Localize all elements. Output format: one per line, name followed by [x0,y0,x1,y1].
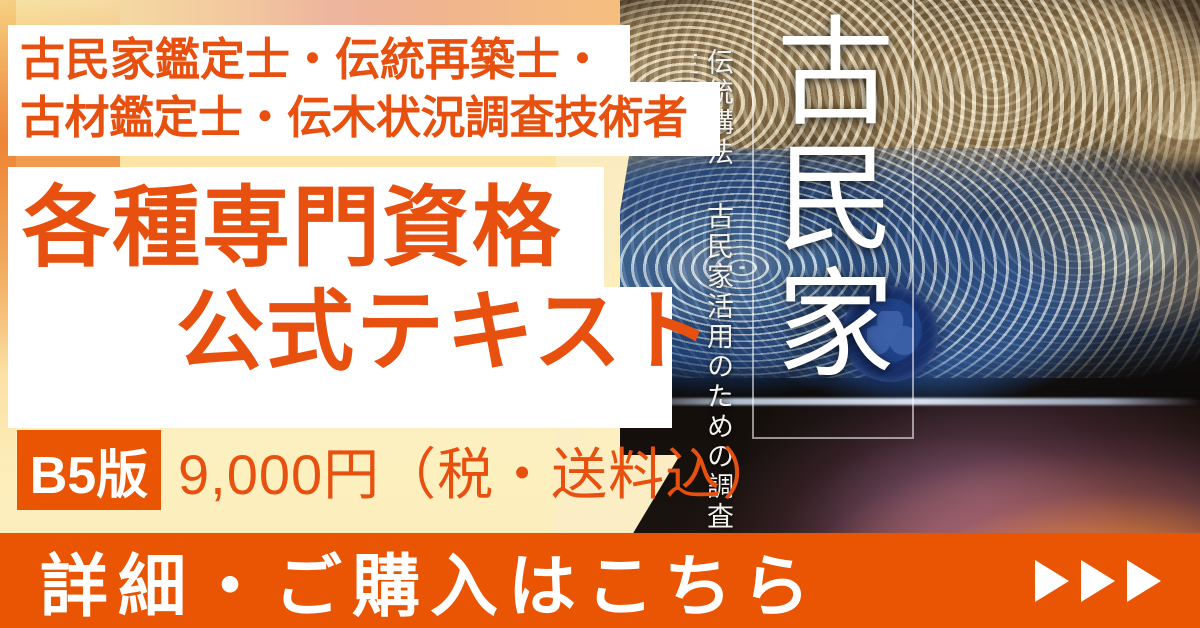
chevron-right-icon [1081,560,1115,602]
chevron-right-icon [1127,560,1161,602]
cover-title-vertical: 古民家 [774,10,894,430]
format-badge: B5版 [17,430,161,510]
cta-bar[interactable]: 詳細・ご購入はこちら [0,533,1200,628]
cta-arrows [1035,533,1161,628]
qualification-subheading: 古民家鑑定士・伝統再築士・ 古材鑑定士・伝木状況調査技術者 [20,31,720,147]
chevron-right-icon [1035,560,1069,602]
price-label: 9,000円（税・送料込） [178,430,779,510]
cta-label[interactable]: 詳細・ご購入はこちら [40,533,820,628]
promo-banner: 古民家 伝統構法 古民家活用のための調査と再生の 古民家鑑定士・伝統再築士・ 古… [0,0,1200,628]
qualification-line-1: 古民家鑑定士・伝統再築士・ [20,31,720,89]
headline-line-2: 公式テキスト [16,280,676,384]
qualification-line-2: 古材鑑定士・伝木状況調査技術者 [20,89,720,147]
headline-line-1: 各種専門資格 [16,176,676,280]
main-headline: 各種専門資格 公式テキスト [16,176,676,384]
